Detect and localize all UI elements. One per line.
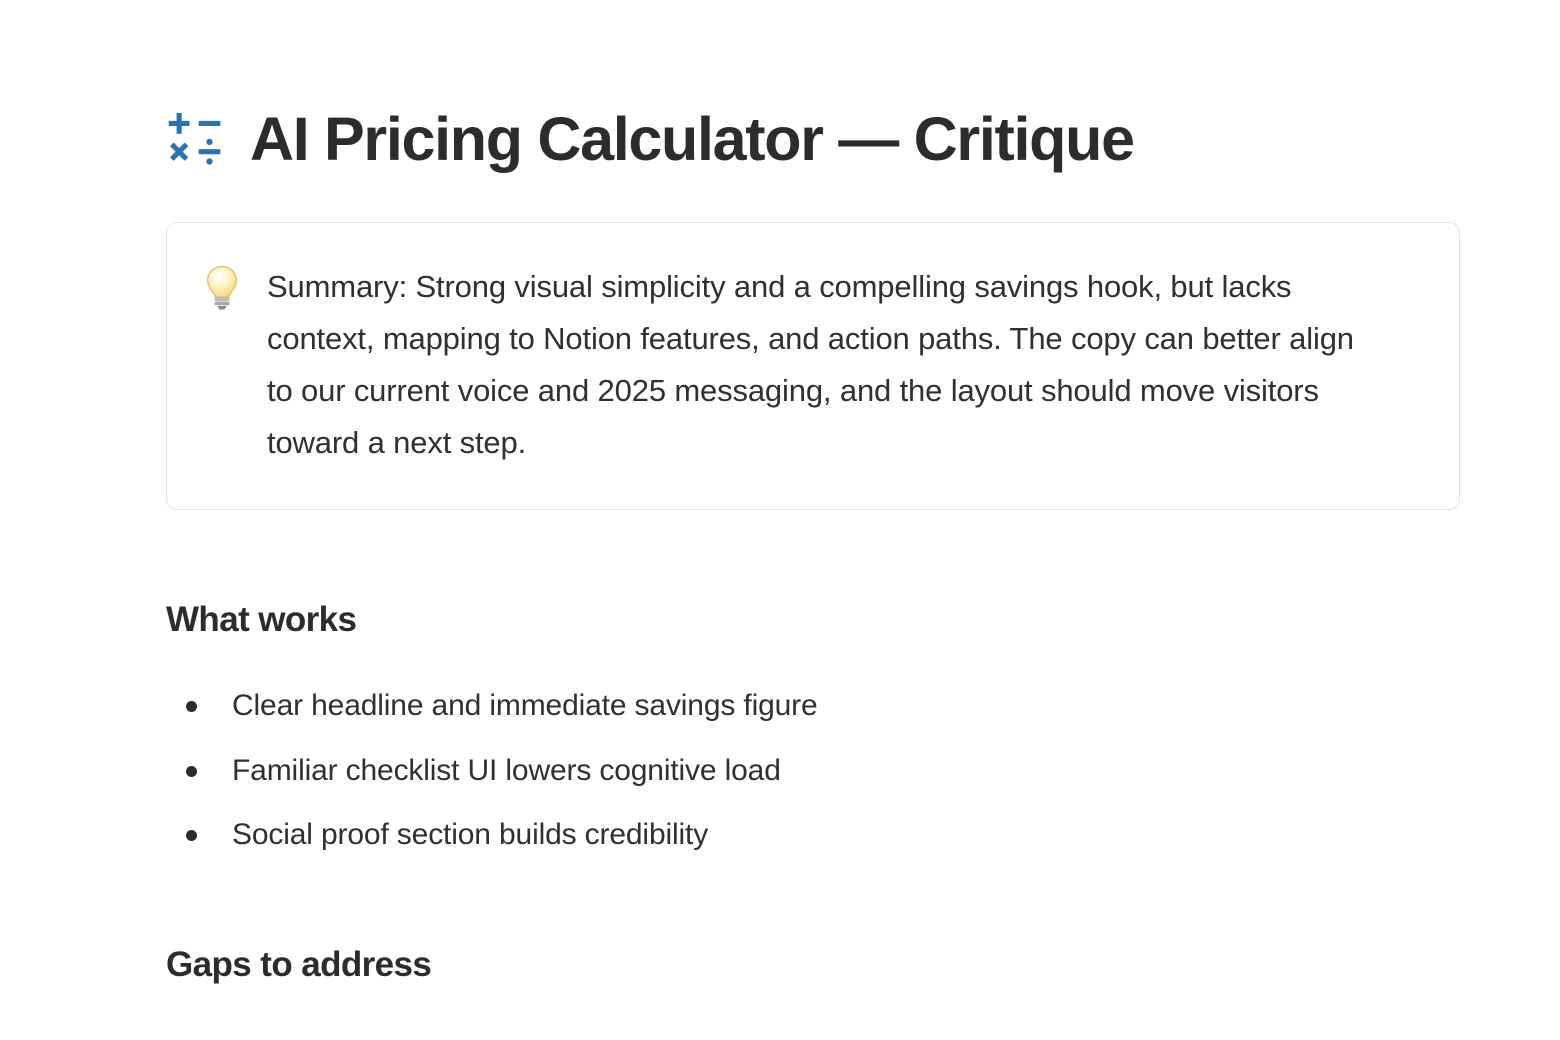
list-item[interactable]: Clear headline and immediate savings fig… — [166, 684, 1462, 728]
list-item-label: Clear headline and immediate savings fig… — [232, 684, 818, 728]
light-bulb-icon[interactable] — [201, 263, 243, 311]
bullet-dot-icon — [166, 749, 232, 777]
section-heading-gaps-to-address: Gaps to address — [166, 943, 1462, 987]
list-item[interactable]: Familiar checklist UI lowers cognitive l… — [166, 749, 1462, 793]
section-heading-what-works: What works — [166, 598, 1462, 642]
page-title: AI Pricing Calculator — Critique — [250, 104, 1134, 174]
math-symbols-icon[interactable] — [166, 110, 224, 168]
document-page: AI Pricing Calculator — Critique — [0, 0, 1560, 1040]
list-item-label: Familiar checklist UI lowers cognitive l… — [232, 749, 781, 793]
bullet-dot-icon — [166, 684, 232, 712]
list-item-label: Social proof section builds credibility — [232, 813, 708, 857]
bullet-dot-icon — [166, 813, 232, 841]
page-title-row: AI Pricing Calculator — Critique — [166, 0, 1462, 174]
summary-callout[interactable]: Summary: Strong visual simplicity and a … — [166, 222, 1460, 510]
list-item[interactable]: Social proof section builds credibility — [166, 813, 1462, 857]
document-content: AI Pricing Calculator — Critique — [166, 0, 1462, 986]
summary-text: Summary: Strong visual simplicity and a … — [267, 261, 1385, 469]
what-works-list: Clear headline and immediate savings fig… — [166, 684, 1462, 857]
